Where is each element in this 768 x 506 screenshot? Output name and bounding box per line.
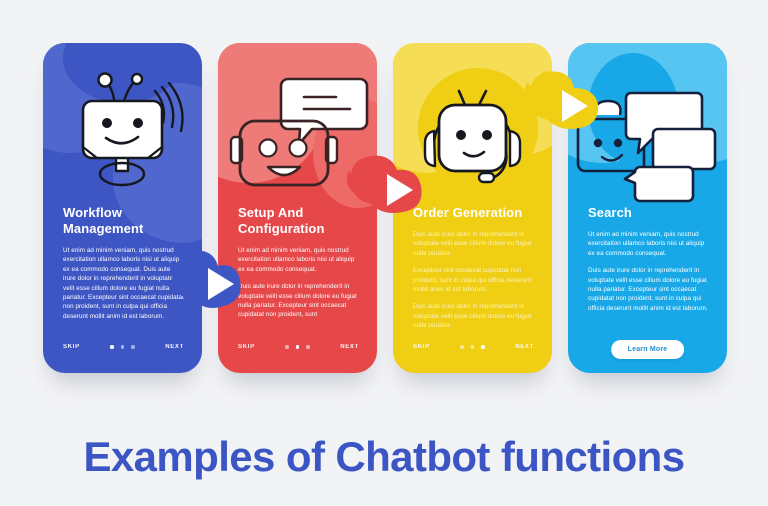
card-paragraph: Duis aute irure dolor in reprehenderit i… (413, 230, 534, 258)
pagination-dots[interactable] (110, 345, 135, 349)
dot-2[interactable] (471, 345, 475, 349)
dot-1[interactable] (285, 345, 289, 349)
card-body: Duis aute irure dolor in reprehenderit i… (413, 230, 534, 331)
card-footer: SKIP NEXT (238, 341, 359, 353)
dot-2[interactable] (296, 345, 300, 349)
robot-head-wifi-icon (43, 43, 202, 203)
card-paragraph: Ut enim ad minim veniam, quis nostrud ex… (63, 246, 184, 321)
dot-3[interactable] (306, 345, 310, 349)
card-content: Search Ut enim ad minim veniam, quis nos… (588, 205, 709, 321)
card-title: Setup And Configuration (238, 205, 359, 237)
card-body: Ut enim ad minim veniam, quis nostrud ex… (588, 230, 709, 313)
card-body: Ut enim ad minim veniam, quis nostrud ex… (63, 246, 184, 321)
dot-1[interactable] (460, 345, 464, 349)
card-paragraph: Ut enim ad minim veniam, quis nostrud ex… (588, 230, 709, 258)
connector-2 (345, 146, 437, 232)
skip-button[interactable]: SKIP (63, 344, 80, 350)
next-button[interactable]: NEXT (340, 344, 359, 350)
skip-button[interactable]: SKIP (238, 344, 255, 350)
connector-1 (168, 238, 260, 324)
next-button[interactable]: NEXT (165, 344, 184, 350)
card-footer: SKIP NEXT (413, 341, 534, 353)
pagination-dots[interactable] (460, 345, 485, 349)
dot-3[interactable] (481, 345, 485, 349)
next-button[interactable]: NEXT (515, 344, 534, 350)
card-paragraph: Duis aute irure dolor in reprehenderit i… (588, 266, 709, 313)
card-footer: SKIP NEXT (63, 341, 184, 353)
skip-button[interactable]: SKIP (413, 344, 430, 350)
page-title: Examples of Chatbot functions (0, 432, 768, 482)
card-title: Search (588, 205, 709, 221)
pagination-dots[interactable] (285, 345, 310, 349)
card-content: Workflow Management Ut enim ad minim ven… (63, 205, 184, 329)
learn-more-button[interactable]: Learn More (611, 340, 685, 359)
dot-1[interactable] (110, 345, 114, 349)
dot-3[interactable] (131, 345, 135, 349)
card-title: Workflow Management (63, 205, 184, 237)
infographic-canvas: Workflow Management Ut enim ad minim ven… (0, 0, 768, 506)
card-paragraph: Excepteur sint occaecat cupidatat non pr… (413, 266, 534, 294)
card-paragraph: Duis aute irure dolor in reprehenderit i… (413, 302, 534, 330)
dot-2[interactable] (121, 345, 125, 349)
connector-3 (522, 62, 614, 148)
